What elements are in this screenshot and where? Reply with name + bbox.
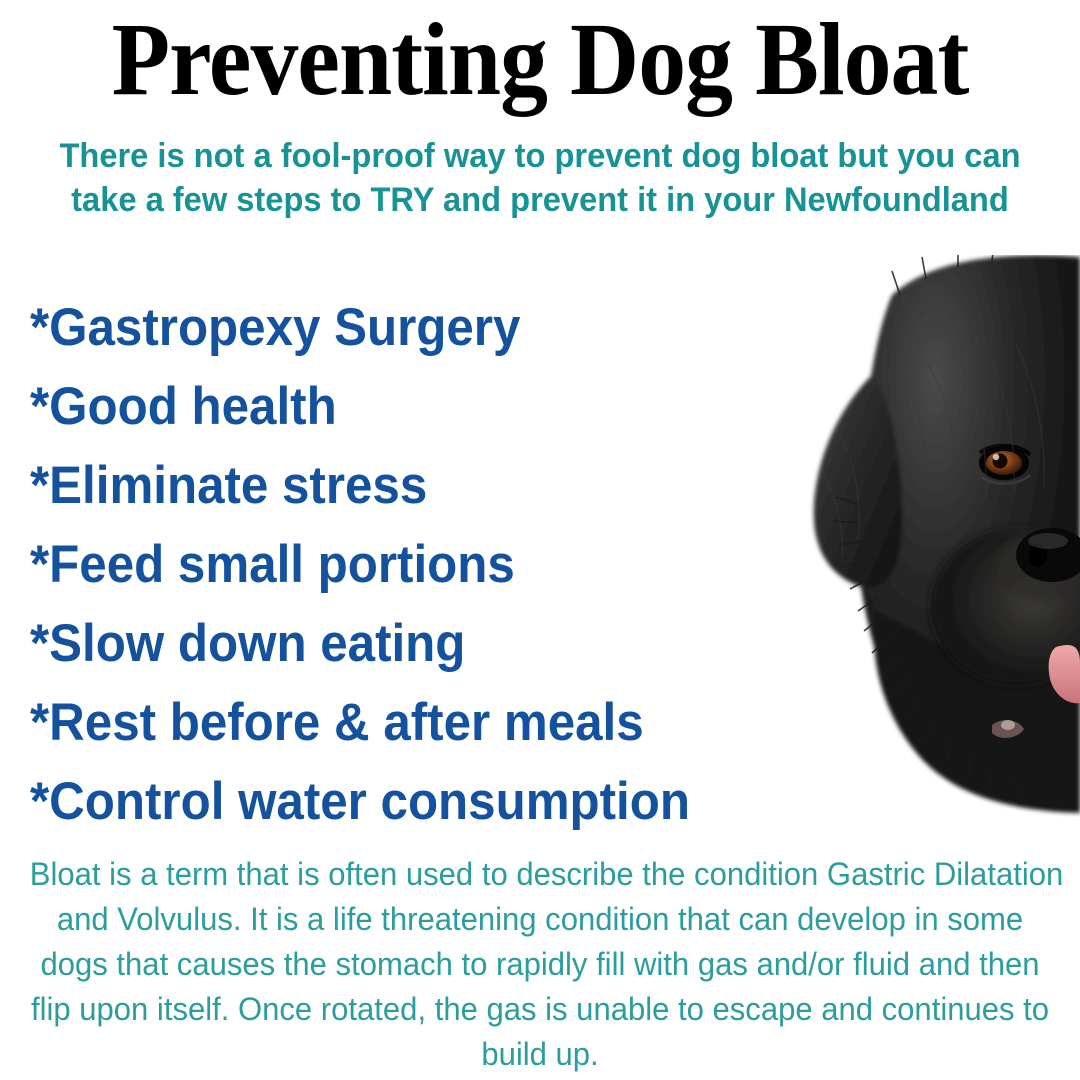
list-item: *Gastropexy Surgery: [30, 288, 737, 367]
paragraph-line-3: dogs that causes the stomach to rapidly …: [30, 942, 1050, 987]
list-item: *Slow down eating: [30, 604, 737, 683]
subtitle: There is not a fool-proof way to prevent…: [29, 134, 1050, 222]
paragraph-line-5: build up.: [30, 1032, 1050, 1077]
prevention-tips-list: *Gastropexy Surgery *Good health *Elimin…: [30, 288, 790, 841]
paragraph-line-1: Bloat is a term that is often used to de…: [30, 852, 1050, 897]
list-item: *Eliminate stress: [30, 446, 737, 525]
newfoundland-dog-photo: [780, 255, 1080, 817]
subtitle-line-1: There is not a fool-proof way to prevent…: [29, 134, 1050, 178]
bloat-description-paragraph: Bloat is a term that is often used to de…: [30, 852, 1050, 1077]
list-item: *Rest before & after meals: [30, 683, 737, 762]
paragraph-line-4: flip upon itself. Once rotated, the gas …: [30, 987, 1050, 1032]
list-item: *Control water consumption: [30, 762, 737, 841]
subtitle-line-2: take a few steps to TRY and prevent it i…: [29, 178, 1050, 222]
page-title: Preventing Dog Bloat: [43, 4, 1037, 116]
paragraph-line-2: and Volvulus. It is a life threatening c…: [30, 897, 1050, 942]
list-item: *Good health: [30, 367, 737, 446]
infographic-poster: Preventing Dog Bloat There is not a fool…: [0, 0, 1080, 1080]
list-item: *Feed small portions: [30, 525, 737, 604]
